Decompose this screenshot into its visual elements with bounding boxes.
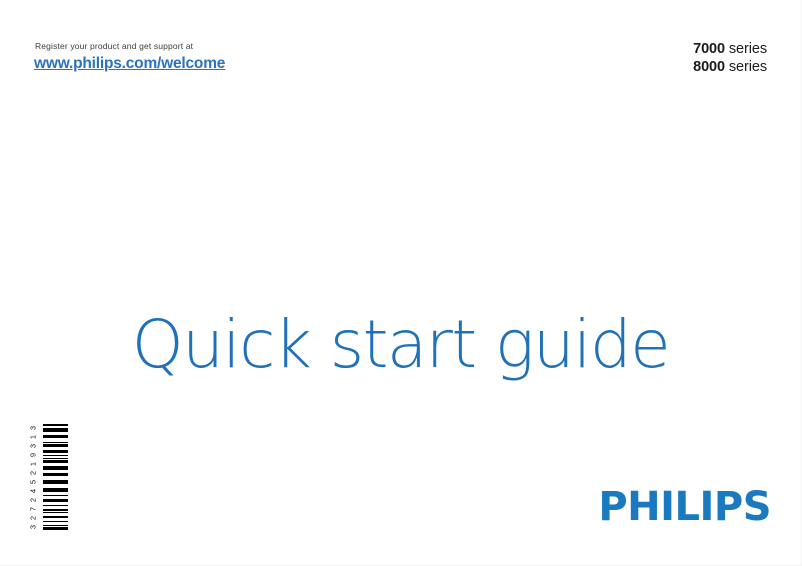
series-number: 7000 xyxy=(693,41,725,57)
barcode-digit: 3 xyxy=(28,524,37,528)
barcode-guard-bar xyxy=(43,424,68,426)
barcode-digit: 2 xyxy=(28,497,37,501)
barcode: 313912542723 xyxy=(26,423,70,531)
barcode-digit: 3 xyxy=(28,443,37,447)
barcode-bar xyxy=(43,460,68,463)
barcode-bar xyxy=(43,480,68,484)
barcode-bars xyxy=(43,424,68,530)
barcode-bar xyxy=(43,455,68,456)
barcode-digit: 1 xyxy=(28,434,37,438)
barcode-bar xyxy=(43,495,68,496)
barcode-bar xyxy=(43,428,68,432)
barcode-digit: 2 xyxy=(28,515,37,519)
barcode-digit: 7 xyxy=(28,506,37,510)
register-product-text: Register your product and get support at xyxy=(35,41,193,51)
barcode-bar xyxy=(43,509,68,511)
barcode-bar xyxy=(43,473,68,476)
barcode-guard-bar xyxy=(43,528,68,530)
series-label: series xyxy=(729,59,767,75)
barcode-digit: 1 xyxy=(28,461,37,465)
series-label: series xyxy=(729,41,767,57)
barcode-bar xyxy=(43,488,68,492)
series-item-7000: 7000 series xyxy=(693,41,767,59)
barcode-bar xyxy=(43,512,68,513)
barcode-bar xyxy=(43,466,68,470)
barcode-digit: 9 xyxy=(28,452,37,456)
barcode-bar xyxy=(43,444,68,447)
series-number: 8000 xyxy=(693,59,725,75)
barcode-digit: 5 xyxy=(28,479,37,483)
barcode-bar xyxy=(43,499,68,502)
philips-welcome-link[interactable]: www.philips.com/welcome xyxy=(34,55,225,73)
barcode-bar xyxy=(43,505,68,506)
barcode-digit: 4 xyxy=(28,488,37,492)
barcode-bar xyxy=(43,450,68,453)
series-list: 7000 series 8000 series xyxy=(693,41,767,76)
barcode-digit: 2 xyxy=(28,470,37,474)
barcode-bar xyxy=(43,521,68,522)
barcode-digit: 3 xyxy=(28,425,37,429)
barcode-digits: 313912542723 xyxy=(26,423,39,531)
barcode-bar xyxy=(43,525,68,526)
barcode-bar xyxy=(43,435,68,438)
barcode-bar xyxy=(43,516,68,518)
barcode-bar xyxy=(43,442,68,443)
philips-wordmark-logo: PHILIPS xyxy=(598,487,771,527)
series-item-8000: 8000 series xyxy=(693,59,767,77)
page-title: Quick start guide xyxy=(132,312,669,378)
barcode-bar xyxy=(43,458,68,459)
document-page: Register your product and get support at… xyxy=(0,0,802,566)
title-container: Quick start guide xyxy=(0,268,801,422)
